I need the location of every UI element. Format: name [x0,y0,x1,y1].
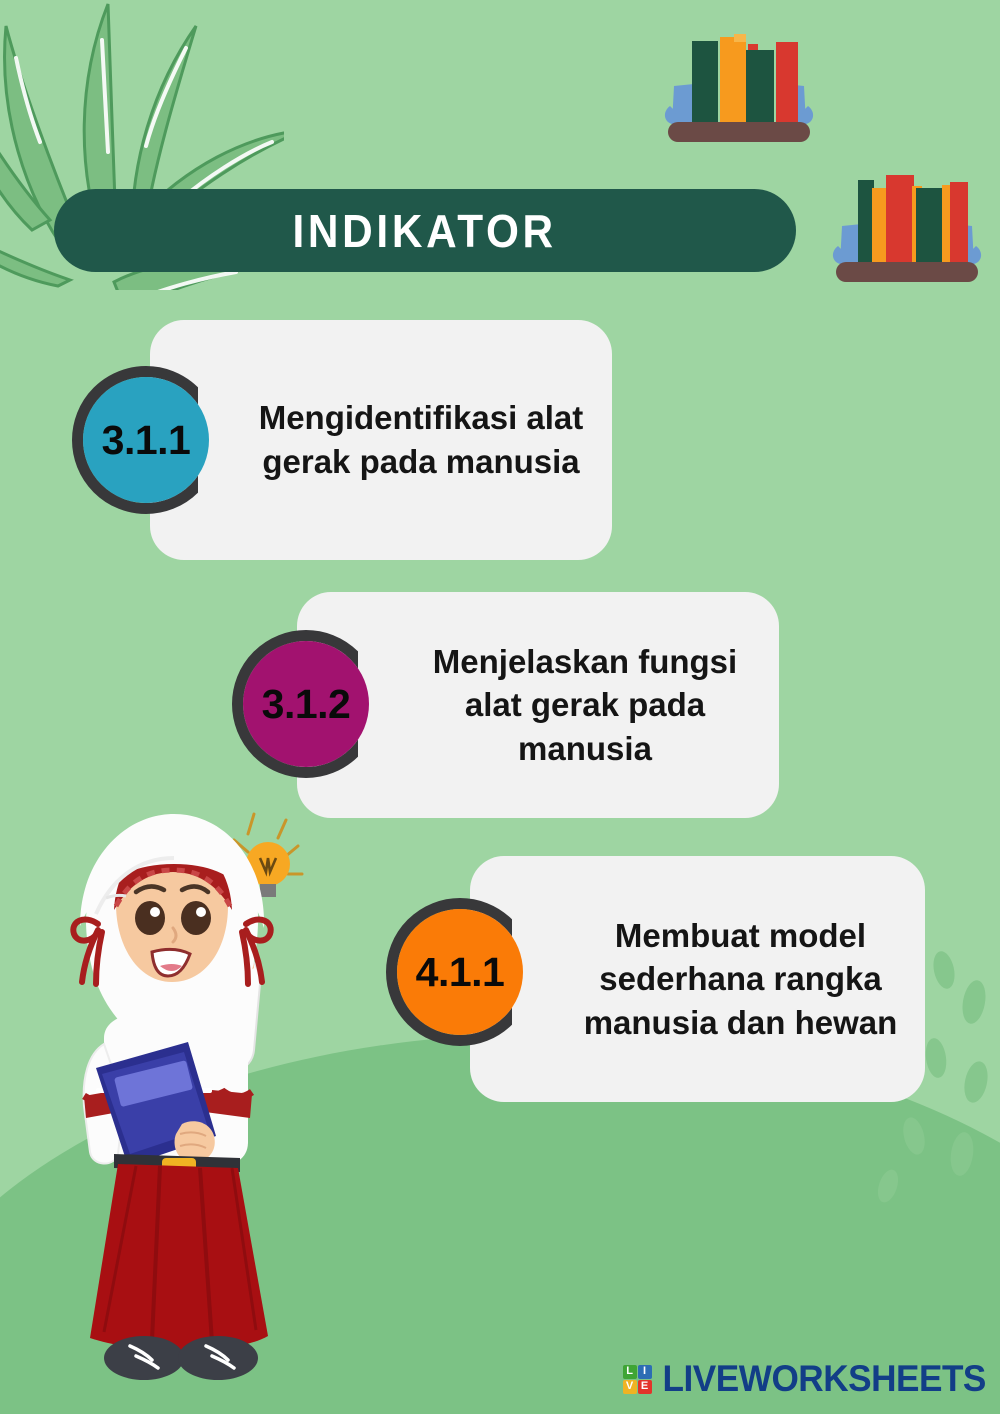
indicator-code: 3.1.1 [72,366,220,514]
student-girl-illustration [40,806,308,1386]
bookshelf-icon [660,28,818,143]
logo-tile-l: L [623,1365,637,1379]
indicator-code: 4.1.1 [386,898,534,1046]
logo-wordmark: LIVEWORKSHEETS [662,1358,985,1400]
page-title: INDIKATOR [293,204,557,258]
liveworksheets-logo[interactable]: L I V E LIVEWORKSHEETS [623,1358,994,1400]
page-title-banner: INDIKATOR [54,189,796,272]
indicator-code: 3.1.2 [232,630,380,778]
indicator-card[interactable]: Membuat model sederhana rangka manusia d… [470,856,925,1102]
logo-tile-i: I [638,1365,652,1379]
poster-canvas: INDIKATOR Mengidentifikasi alat gerak pa… [0,0,1000,1414]
logo-tile-v: V [623,1380,637,1394]
bookshelf-icon [828,168,986,283]
indicator-badge: 4.1.1 [386,898,534,1046]
logo-tiles-icon: L I V E [623,1365,652,1394]
indicator-text: Membuat model sederhana rangka manusia d… [470,914,925,1045]
indicator-badge: 3.1.1 [72,366,220,514]
indicator-badge: 3.1.2 [232,630,380,778]
logo-tile-e: E [638,1380,652,1394]
